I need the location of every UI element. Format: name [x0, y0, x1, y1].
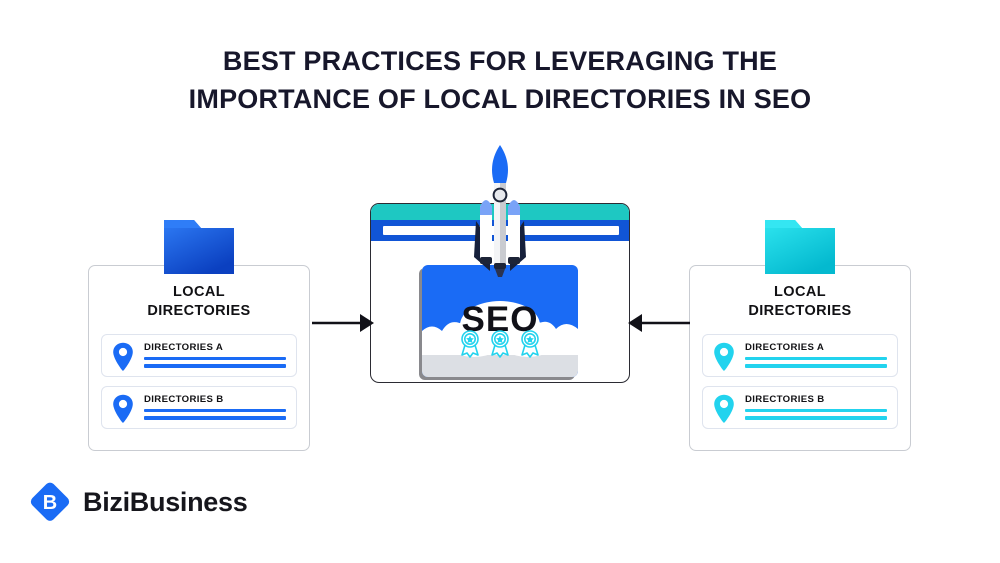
text-placeholder-bar: [745, 357, 887, 361]
logo-wordmark: BiziBusiness: [83, 487, 247, 518]
card-title-right: LOCAL DIRECTORIES: [690, 283, 910, 322]
text-placeholder-bar: [745, 416, 887, 420]
list-item-label: DIRECTORIES B: [144, 387, 296, 405]
list-item-label: DIRECTORIES A: [144, 335, 296, 353]
seo-illustration: SEO: [370, 203, 630, 383]
list-item-label: DIRECTORIES A: [745, 335, 897, 353]
map-pin-icon: [112, 342, 134, 371]
directory-row-list-right: DIRECTORIES A DIRECTORIES B: [690, 334, 910, 429]
page-title-line-2: IMPORTANCE OF LOCAL DIRECTORIES IN SEO: [0, 80, 1000, 118]
bizibusiness-diamond-logo-icon: B: [28, 480, 72, 524]
text-placeholder-bar: [144, 364, 286, 368]
svg-text:B: B: [43, 492, 57, 514]
folder-icon: [162, 214, 236, 276]
directory-row-list-left: DIRECTORIES A DIRECTORIES B: [89, 334, 309, 429]
list-item[interactable]: DIRECTORIES A: [702, 334, 898, 377]
text-placeholder-bar: [745, 409, 887, 413]
local-directories-card-left: LOCAL DIRECTORIES DIRECTORIES A DIRECT: [88, 265, 310, 451]
list-item[interactable]: DIRECTORIES A: [101, 334, 297, 377]
text-placeholder-bar: [144, 416, 286, 420]
map-pin-icon: [713, 394, 735, 423]
folder-icon: [763, 214, 837, 276]
page-title-line-1: BEST PRACTICES FOR LEVERAGING THE: [0, 42, 1000, 80]
list-item[interactable]: DIRECTORIES B: [101, 386, 297, 429]
card-title-left-line-1: LOCAL: [89, 283, 309, 302]
card-title-right-line-1: LOCAL: [690, 283, 910, 302]
text-placeholder-bar: [745, 364, 887, 368]
text-placeholder-bar: [144, 409, 286, 413]
card-title-left-line-2: DIRECTORIES: [89, 302, 309, 321]
list-item-label: DIRECTORIES B: [745, 387, 897, 405]
bizibusiness-logo: B BiziBusiness: [28, 480, 247, 524]
local-directories-card-right: LOCAL DIRECTORIES DIRECTORIES A DIRECT: [689, 265, 911, 451]
map-pin-icon: [713, 342, 735, 371]
page-title: BEST PRACTICES FOR LEVERAGING THE IMPORT…: [0, 42, 1000, 119]
card-title-right-line-2: DIRECTORIES: [690, 302, 910, 321]
map-pin-icon: [112, 394, 134, 423]
list-item[interactable]: DIRECTORIES B: [702, 386, 898, 429]
card-title-left: LOCAL DIRECTORIES: [89, 283, 309, 322]
rocket-icon: [456, 145, 544, 295]
arrow-right-icon: [312, 310, 374, 336]
text-placeholder-bar: [144, 357, 286, 361]
arrow-left-icon: [628, 310, 690, 336]
